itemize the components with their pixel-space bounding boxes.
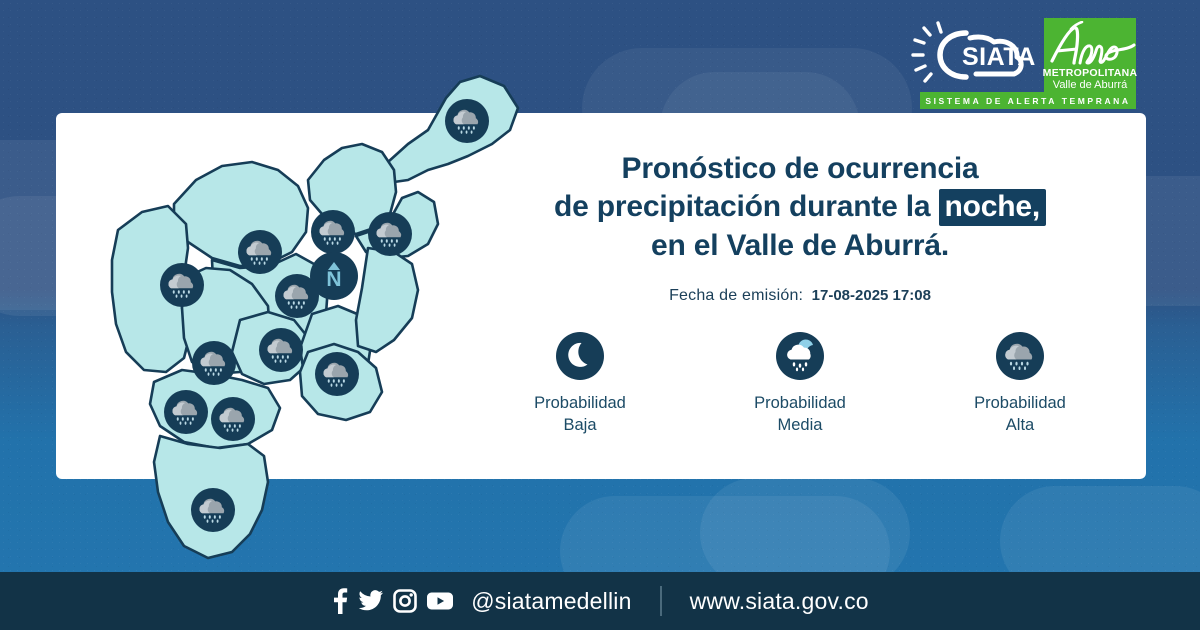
legend-baja-line2: Baja xyxy=(495,414,665,436)
facebook-icon[interactable] xyxy=(331,587,349,615)
cloud-rain-icon xyxy=(935,330,1105,382)
legend-alta-line2: Alta xyxy=(935,414,1105,436)
compass-north-icon: N xyxy=(310,252,358,300)
map-marker-la-estrella[interactable] xyxy=(164,390,208,434)
legend-label-baja: Probabilidad Baja xyxy=(495,392,665,437)
legend-media-line1: Probabilidad xyxy=(715,392,885,414)
siata-tagline: SISTEMA DE ALERTA TEMPRANA xyxy=(920,92,1136,109)
social-icons xyxy=(331,587,454,615)
emission-date: Fecha de emisión: 17-08-2025 17:08 xyxy=(470,287,1130,305)
youtube-icon[interactable] xyxy=(426,590,454,612)
legend-item-media: Probabilidad Media xyxy=(715,330,885,437)
moon-icon xyxy=(495,330,665,382)
legend-baja-line1: Probabilidad xyxy=(495,392,665,414)
svg-text:SIATA: SIATA xyxy=(962,43,1036,71)
area-metropolitana-logo: METROPOLITANA Valle de Aburrá xyxy=(1044,18,1136,96)
map-marker-barbosa[interactable] xyxy=(445,99,489,143)
title-line-1: Pronóstico de ocurrencia xyxy=(470,150,1130,188)
legend-media-line2: Media xyxy=(715,414,885,436)
map-marker-san-pedro[interactable] xyxy=(238,230,282,274)
map-marker-envigado[interactable] xyxy=(192,341,236,385)
map-marker-girardota[interactable] xyxy=(311,210,355,254)
twitter-icon[interactable] xyxy=(358,589,384,613)
map-marker-sabaneta[interactable] xyxy=(315,352,359,396)
title-line-2: de precipitación durante la noche, xyxy=(470,188,1130,226)
legend-label-media: Probabilidad Media xyxy=(715,392,885,437)
map-marker-copacabana[interactable] xyxy=(368,212,412,256)
emission-value: 17-08-2025 17:08 xyxy=(812,287,931,304)
website-url[interactable]: www.siata.gov.co xyxy=(690,588,869,615)
region-east-strip xyxy=(356,248,418,352)
footer-bar: @siatamedellin www.siata.gov.co xyxy=(0,572,1200,630)
am-line1: METROPOLITANA xyxy=(1043,68,1138,80)
am-line2: Valle de Aburrá xyxy=(1053,79,1127,92)
area-script-icon xyxy=(1044,21,1136,67)
legend-item-alta: Probabilidad Alta xyxy=(935,330,1105,437)
siata-logo: SIATA xyxy=(910,18,1038,90)
probability-legend: Probabilidad Baja xyxy=(470,330,1130,437)
map-marker-medellin[interactable] xyxy=(160,263,204,307)
map-marker-itagui[interactable] xyxy=(259,328,303,372)
legend-label-alta: Probabilidad Alta xyxy=(935,392,1105,437)
logo-group: SIATA METROPOLITANA Valle de Aburrá xyxy=(910,18,1136,96)
title-highlight-noche: noche, xyxy=(939,189,1046,226)
map-marker-caldas[interactable] xyxy=(211,397,255,441)
title-block: Pronóstico de ocurrencia de precipitació… xyxy=(470,150,1130,305)
instagram-icon[interactable] xyxy=(393,589,417,613)
emission-label: Fecha de emisión: xyxy=(669,287,803,304)
forecast-poster: SIATA METROPOLITANA Valle de Aburrá SIST… xyxy=(0,0,1200,630)
title-line-2-text: de precipitación durante la xyxy=(554,190,930,223)
map-marker-caldas-sur[interactable] xyxy=(191,488,235,532)
footer-divider xyxy=(660,586,662,616)
cloud-moon-rain-icon xyxy=(715,330,885,382)
title-line-3: en el Valle de Aburrá. xyxy=(470,227,1130,265)
social-handle[interactable]: @siatamedellin xyxy=(471,588,631,615)
page-title: Pronóstico de ocurrencia de precipitació… xyxy=(470,150,1130,265)
compass-label: N xyxy=(326,271,341,290)
legend-alta-line1: Probabilidad xyxy=(935,392,1105,414)
legend-item-baja: Probabilidad Baja xyxy=(495,330,665,437)
